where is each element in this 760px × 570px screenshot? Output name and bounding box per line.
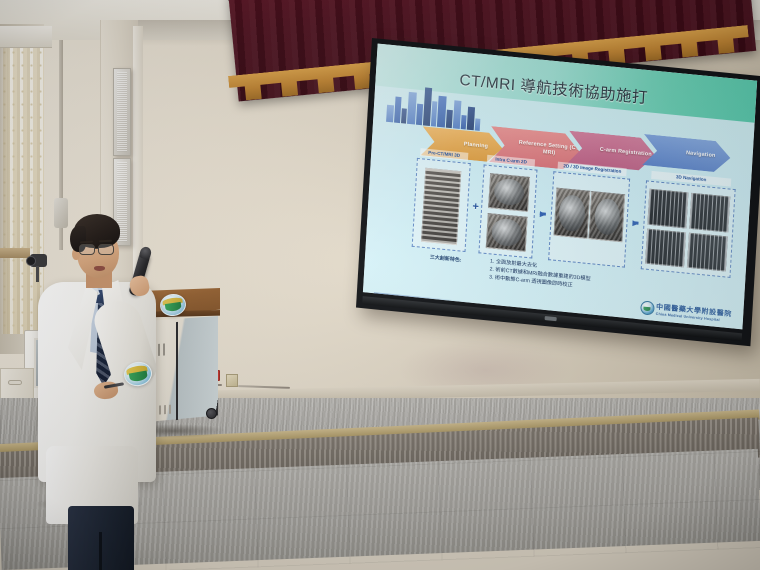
storage-box-handle xyxy=(8,380,22,385)
thumbnail-registration-left xyxy=(554,188,590,239)
panel-navigation: 3D Navigation xyxy=(641,180,736,278)
floor-junction-box xyxy=(226,374,238,387)
window-sill xyxy=(0,248,30,258)
presenter-mouth xyxy=(94,266,105,271)
thumbnail-nav-1 xyxy=(647,188,688,229)
presenter xyxy=(38,214,158,504)
thumbnail-ct-spine xyxy=(421,168,461,245)
podium-panel-divider xyxy=(176,322,178,420)
presentation-photo-scene: CT/MRI 導航技術協助施打 xyxy=(0,0,760,570)
projection-screen[interactable]: CT/MRI 導航技術協助施打 xyxy=(356,38,760,346)
thumbnail-nav-2 xyxy=(689,192,730,233)
window-curtain-shadow xyxy=(0,46,10,334)
glasses-lens-right-icon xyxy=(98,244,114,255)
bullets-heading: 三大創新特色: xyxy=(430,254,462,264)
screen-surface: CT/MRI 導航技術協助施打 xyxy=(363,44,757,330)
panel-pre-ct-mri: Pre-CT/MRI 3D xyxy=(411,157,470,252)
plus-icon: + xyxy=(472,201,479,214)
thumbnail-nav-4 xyxy=(687,233,728,272)
panel-registration: 2D / 3D Image Registration xyxy=(548,171,630,268)
bullets-list: 1. 全面放射最大去化 2. 術前CT數據和MRI融合數據重建的3D模型 3. … xyxy=(489,259,591,292)
hospital-logo-mark-icon xyxy=(640,300,655,315)
arrow-right-icon xyxy=(540,211,546,218)
thumbnail-registration-right xyxy=(589,191,625,242)
flow-step-navigation: Navigation xyxy=(642,134,731,174)
arrow-right-icon xyxy=(632,220,638,227)
glasses-bridge xyxy=(95,248,99,249)
wall-speaker-upper xyxy=(113,68,131,156)
thumbnail-nav-3 xyxy=(645,228,686,267)
podium-caster xyxy=(206,408,217,419)
curtain-valance xyxy=(0,26,52,48)
hospital-logo: 中國醫藥大學附設醫院 China Medical University Hosp… xyxy=(640,300,732,323)
presenter-leg-seam xyxy=(99,532,102,570)
glasses-lens-left-icon xyxy=(79,244,95,255)
thumbnail-carm-top xyxy=(488,173,530,212)
slide: CT/MRI 導航技術協助施打 xyxy=(363,44,757,330)
thumbnail-carm-bottom xyxy=(486,213,528,252)
panel-intra-carm: Intra C-arm 2D xyxy=(478,164,537,259)
